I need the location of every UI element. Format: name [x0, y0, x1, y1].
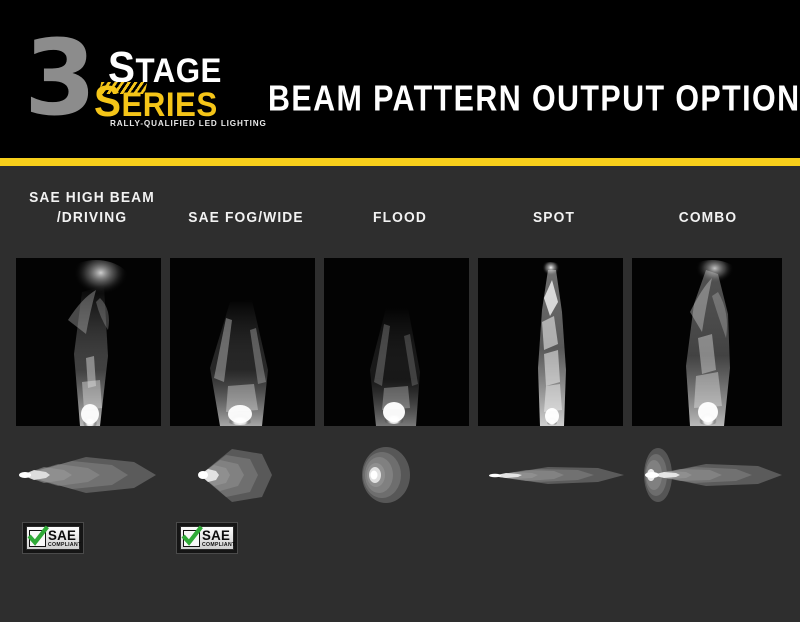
header-banner: 3 STAGE SERIES RALLY-QUALIFIED LED LIGHT…: [0, 0, 800, 158]
pattern-column-sae-high-beam-driving: SAE HIGH BEAM /DRIVING: [16, 166, 168, 622]
beam-diagram: [170, 440, 330, 510]
beam-diagram: [324, 440, 484, 510]
column-label: SAE HIGH BEAM /DRIVING: [20, 188, 164, 228]
column-label: SPOT: [482, 208, 626, 228]
beam-diagram: [632, 440, 792, 510]
beam-photo: [170, 258, 315, 426]
sae-badge-subtitle: COMPLIANT: [202, 543, 235, 548]
sae-badge-title: SAE: [202, 528, 235, 542]
column-label: COMBO: [636, 208, 780, 228]
beam-diagram: [478, 440, 638, 510]
checkmark-icon: [183, 530, 200, 547]
pattern-column-combo: COMBO: [632, 166, 784, 622]
beam-photo: [632, 258, 782, 426]
page-title: BEAM PATTERN OUTPUT OPTIONS: [268, 78, 800, 119]
beam-diagram: [16, 440, 176, 510]
brand-logo: 3 STAGE SERIES RALLY-QUALIFIED LED LIGHT…: [24, 30, 264, 130]
column-label-line1: COMBO: [636, 208, 780, 228]
checkmark-icon: [29, 530, 46, 547]
column-label: FLOOD: [328, 208, 472, 228]
pattern-column-spot: SPOT: [478, 166, 630, 622]
yellow-divider: [0, 158, 800, 166]
beam-pattern-grid: SAE HIGH BEAM /DRIVING: [0, 166, 800, 622]
pattern-column-sae-fog-wide: SAE FOG/WIDE: [170, 166, 322, 622]
column-label-line1: SAE HIGH BEAM: [20, 188, 164, 208]
sae-badge-title: SAE: [48, 528, 81, 542]
column-label-line2: /DRIVING: [20, 208, 164, 228]
column-label-line1: SAE FOG/WIDE: [174, 208, 318, 228]
logo-numeral: 3: [24, 26, 92, 130]
beam-photo: [478, 258, 623, 426]
sae-badge-subtitle: COMPLIANT: [48, 543, 81, 548]
pattern-column-flood: FLOOD: [324, 166, 476, 622]
beam-photo: [324, 258, 469, 426]
sae-badge-text: SAE COMPLIANT: [48, 528, 83, 548]
sae-badge-inner: SAE COMPLIANT: [26, 526, 80, 550]
pattern-columns: SAE HIGH BEAM /DRIVING: [16, 166, 784, 622]
column-label-line1: SPOT: [482, 208, 626, 228]
column-label: SAE FOG/WIDE: [174, 208, 318, 228]
sae-compliant-badge: SAE COMPLIANT: [22, 522, 84, 554]
sae-badge-text: SAE COMPLIANT: [202, 528, 237, 548]
sae-compliant-badge: SAE COMPLIANT: [176, 522, 238, 554]
logo-tagline: RALLY-QUALIFIED LED LIGHTING: [110, 118, 267, 128]
sae-badge-inner: SAE COMPLIANT: [180, 526, 234, 550]
beam-photo: [16, 258, 161, 426]
column-label-line1: FLOOD: [328, 208, 472, 228]
